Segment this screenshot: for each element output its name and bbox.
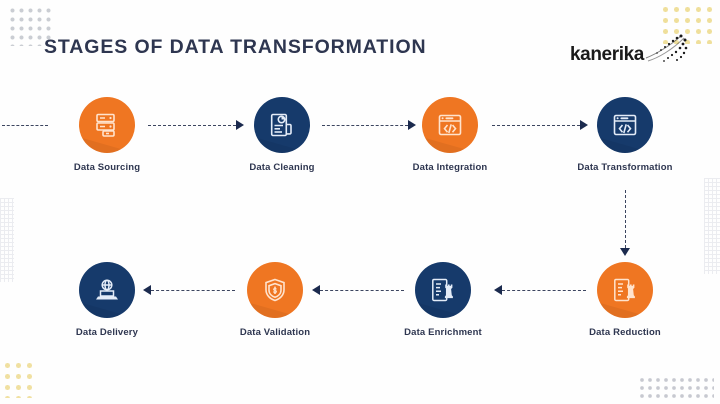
- swoosh-fan-icon: [644, 32, 688, 66]
- code-window-icon: [435, 110, 465, 140]
- connector-dash-vertical: [625, 190, 626, 248]
- document-rook-icon: [428, 275, 458, 305]
- connector-entry-stub: [2, 125, 48, 126]
- connector-dash: [148, 125, 236, 126]
- stage-icon-circle: $: [247, 262, 303, 318]
- connector-dash: [492, 125, 580, 126]
- stage-label: Data Cleaning: [222, 162, 342, 173]
- arrowhead-right-icon: [236, 120, 244, 130]
- brand-logo-text: kanerika: [570, 44, 644, 66]
- page-title: STAGES OF DATA TRANSFORMATION: [44, 36, 427, 59]
- stage-label: Data Delivery: [47, 327, 167, 338]
- connector-validation-to-delivery: [143, 284, 235, 296]
- document-rook-icon: [610, 275, 640, 305]
- stage-node-data-enrichment[interactable]: Data Enrichment: [383, 262, 503, 338]
- stage-icon-circle: [79, 262, 135, 318]
- arrowhead-right-icon: [580, 120, 588, 130]
- stage-node-data-delivery[interactable]: Data Delivery: [47, 262, 167, 338]
- dot-grid-bottom-left: [2, 360, 38, 398]
- stage-icon-circle: [597, 97, 653, 153]
- arrowhead-left-icon: [312, 285, 320, 295]
- stage-node-data-validation[interactable]: $ Data Validation: [215, 262, 335, 338]
- stage-label: Data Transformation: [565, 162, 685, 173]
- arrowhead-down-icon: [620, 248, 630, 256]
- arrowhead-left-icon: [143, 285, 151, 295]
- connector-dash: [151, 290, 235, 291]
- stage-icon-circle: [254, 97, 310, 153]
- stage-label: Data Integration: [390, 162, 510, 173]
- laptop-globe-icon: [92, 275, 122, 305]
- stage-label: Data Validation: [215, 327, 335, 338]
- dot-grid-bottom-right: [638, 376, 714, 402]
- stage-icon-circle: [415, 262, 471, 318]
- stage-node-data-cleaning[interactable]: Data Cleaning: [222, 97, 342, 173]
- connector-enrichment-to-validation: [312, 284, 404, 296]
- connector-cleaning-to-integration: [322, 119, 416, 131]
- stage-node-data-transformation[interactable]: Data Transformation: [565, 97, 685, 173]
- database-server-icon: [92, 110, 122, 140]
- stage-icon-circle: [422, 97, 478, 153]
- report-document-icon: [267, 110, 297, 140]
- connector-reduction-to-enrichment: [494, 284, 586, 296]
- connector-transformation-to-reduction: [619, 190, 631, 256]
- connector-dash: [502, 290, 586, 291]
- stage-icon-circle: [597, 262, 653, 318]
- connector-dash: [322, 125, 408, 126]
- stage-label: Data Sourcing: [47, 162, 167, 173]
- line-grid-right-edge: [704, 178, 720, 274]
- svg-text:$: $: [273, 286, 278, 295]
- connector-dash: [320, 290, 404, 291]
- stage-label: Data Reduction: [565, 327, 685, 338]
- stage-node-data-integration[interactable]: Data Integration: [390, 97, 510, 173]
- shield-dollar-icon: $: [260, 275, 290, 305]
- stage-label: Data Enrichment: [383, 327, 503, 338]
- brand-logo: kanerika: [570, 32, 690, 72]
- stage-node-data-sourcing[interactable]: Data Sourcing: [47, 97, 167, 173]
- line-grid-left-edge: [0, 198, 14, 282]
- arrowhead-left-icon: [494, 285, 502, 295]
- connector-sourcing-to-cleaning: [148, 119, 244, 131]
- connector-integration-to-transformation: [492, 119, 588, 131]
- arrowhead-right-icon: [408, 120, 416, 130]
- slide-canvas: STAGES OF DATA TRANSFORMATION kanerika: [0, 0, 720, 404]
- stage-node-data-reduction[interactable]: Data Reduction: [565, 262, 685, 338]
- code-window-icon: [610, 110, 640, 140]
- stage-icon-circle: [79, 97, 135, 153]
